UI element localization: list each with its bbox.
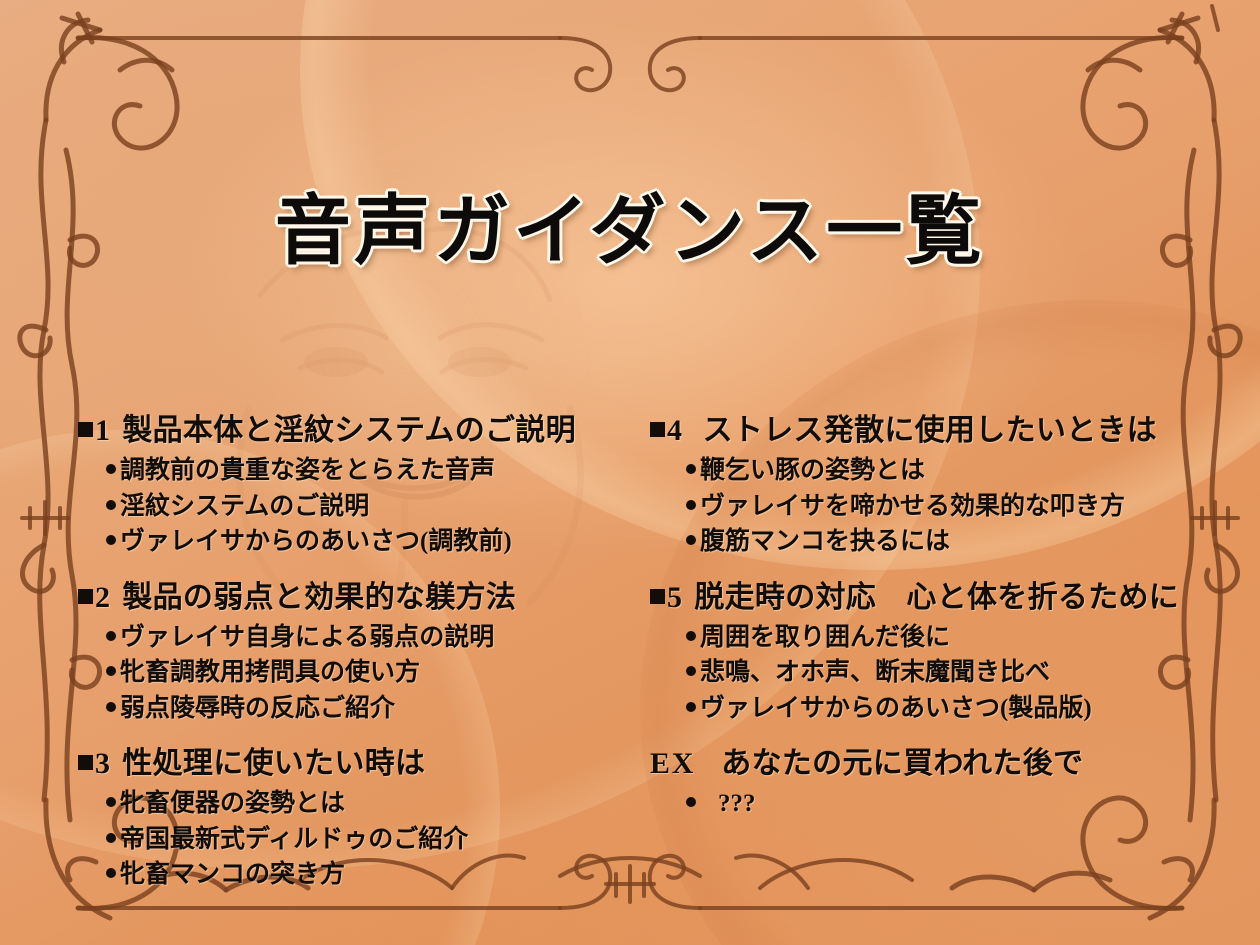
- section-2-number: 2: [95, 581, 110, 615]
- list-item: ヴァレイサ自身による弱点の説明: [106, 620, 658, 656]
- list-item-label: 牝畜調教用拷問具の使い方: [120, 655, 420, 691]
- black-square-icon: [650, 589, 665, 604]
- list-item: 調教前の貴重な姿をとらえた音声: [106, 453, 658, 489]
- list-item-label: 調教前の貴重な姿をとらえた音声: [120, 453, 495, 489]
- list-item-label: ヴァレイサ自身による弱点の説明: [120, 620, 494, 656]
- list-item: 牝畜調教用拷問具の使い方: [106, 655, 658, 691]
- black-circle-icon: [686, 797, 696, 807]
- page-title: 音声ガイダンス一覧: [0, 169, 1260, 279]
- section-2: 2 製品の弱点と効果的な躾方法 ヴァレイサ自身による弱点の説明 牝畜調教用拷問具…: [78, 572, 658, 727]
- left-column: 1 製品本体と淫紋システムのご説明 調教前の貴重な姿をとらえた音声 淫紋システム…: [78, 405, 658, 905]
- list-item: ヴァレイサからのあいさつ(製品版): [686, 691, 1250, 727]
- section-1-title: 製品本体と淫紋システムのご説明: [122, 405, 576, 449]
- black-square-icon: [78, 589, 93, 604]
- list-item-label: ヴァレイサからのあいさつ(調教前): [120, 524, 512, 560]
- black-circle-icon: [106, 535, 116, 545]
- corner-flourish-top-left: [46, 14, 177, 148]
- list-item-label: 帝国最新式ディルドゥのご紹介: [120, 822, 468, 858]
- black-circle-icon: [686, 631, 696, 641]
- black-circle-icon: [686, 464, 696, 474]
- list-item-label: 淫紋システムのご説明: [120, 489, 369, 525]
- list-item-label: ヴァレイサを啼かせる効果的な叩き方: [700, 489, 1125, 525]
- list-item: 牝畜マンコの突き方: [106, 857, 658, 893]
- black-circle-icon: [686, 666, 696, 676]
- section-4-heading: 4 ストレス発散に使用したいときは: [650, 405, 1250, 449]
- list-item: 鞭乞い豚の姿勢とは: [686, 453, 1250, 489]
- section-3: 3 性処理に使いたい時は 牝畜便器の姿勢とは 帝国最新式ディルドゥのご紹介 牝畜…: [78, 738, 658, 893]
- section-3-number: 3: [95, 747, 110, 781]
- black-circle-icon: [686, 535, 696, 545]
- section-ex: EX あなたの元に買われた後で ???: [650, 738, 1250, 822]
- black-circle-icon: [106, 500, 116, 510]
- section-5: 5 脱走時の対応 心と体を折るために 周囲を取り囲んだ後に 悲鳴、オホ声、断末魔…: [650, 572, 1250, 727]
- list-item: ヴァレイサからのあいさつ(調教前): [106, 524, 658, 560]
- section-1-list: 調教前の貴重な姿をとらえた音声 淫紋システムのご説明 ヴァレイサからのあいさつ(…: [78, 453, 658, 560]
- black-circle-icon: [106, 833, 116, 843]
- corner-flourish-top-right: [1083, 14, 1214, 148]
- black-square-icon: [78, 422, 93, 437]
- black-square-icon: [78, 755, 93, 770]
- section-3-title: 性処理に使いたい時は: [122, 738, 425, 782]
- list-item-label: 鞭乞い豚の姿勢とは: [700, 453, 925, 489]
- black-circle-icon: [106, 631, 116, 641]
- section-4-title: ストレス発散に使用したいときは: [703, 405, 1158, 449]
- list-item-label: 弱点陵辱時の反応ご紹介: [120, 691, 395, 727]
- list-item: 帝国最新式ディルドゥのご紹介: [106, 822, 658, 858]
- section-ex-title: あなたの元に買われた後で: [721, 738, 1083, 782]
- section-2-list: ヴァレイサ自身による弱点の説明 牝畜調教用拷問具の使い方 弱点陵辱時の反応ご紹介: [78, 620, 658, 727]
- section-3-heading: 3 性処理に使いたい時は: [78, 738, 658, 782]
- section-3-list: 牝畜便器の姿勢とは 帝国最新式ディルドゥのご紹介 牝畜マンコの突き方: [78, 786, 658, 893]
- section-ex-list: ???: [650, 786, 1250, 822]
- list-item: 腹筋マンコを抉るには: [686, 524, 1250, 560]
- list-item: 淫紋システムのご説明: [106, 489, 658, 525]
- section-1-number: 1: [95, 414, 110, 448]
- black-circle-icon: [686, 702, 696, 712]
- list-item: 牝畜便器の姿勢とは: [106, 786, 658, 822]
- content-columns: 1 製品本体と淫紋システムのご説明 調教前の貴重な姿をとらえた音声 淫紋システム…: [0, 405, 1260, 875]
- black-square-icon: [650, 422, 665, 437]
- list-item: ヴァレイサを啼かせる効果的な叩き方: [686, 489, 1250, 525]
- black-circle-icon: [686, 500, 696, 510]
- list-item-label: 周囲を取り囲んだ後に: [700, 620, 950, 656]
- list-item-label: ???: [718, 786, 756, 822]
- list-item: 周囲を取り囲んだ後に: [686, 620, 1250, 656]
- list-item-label: ヴァレイサからのあいさつ(製品版): [700, 691, 1092, 727]
- section-5-heading: 5 脱走時の対応 心と体を折るために: [650, 572, 1250, 616]
- list-item: 弱点陵辱時の反応ご紹介: [106, 691, 658, 727]
- list-item: 悲鳴、オホ声、断末魔聞き比べ: [686, 655, 1250, 691]
- list-item-label: 悲鳴、オホ声、断末魔聞き比べ: [700, 655, 1050, 691]
- top-center-cross-motif: [1212, 6, 1218, 30]
- section-5-number: 5: [667, 581, 682, 615]
- section-4-list: 鞭乞い豚の姿勢とは ヴァレイサを啼かせる効果的な叩き方 腹筋マンコを抉るには: [650, 453, 1250, 560]
- black-circle-icon: [106, 464, 116, 474]
- section-5-title: 脱走時の対応 心と体を折るために: [694, 572, 1179, 616]
- section-2-heading: 2 製品の弱点と効果的な躾方法: [78, 572, 658, 616]
- black-circle-icon: [106, 702, 116, 712]
- section-5-list: 周囲を取り囲んだ後に 悲鳴、オホ声、断末魔聞き比べ ヴァレイサからのあいさつ(製…: [650, 620, 1250, 727]
- right-column: 4 ストレス発散に使用したいときは 鞭乞い豚の姿勢とは ヴァレイサを啼かせる効果…: [650, 405, 1250, 834]
- list-item-label: 腹筋マンコを抉るには: [700, 524, 950, 560]
- section-2-title: 製品の弱点と効果的な躾方法: [122, 572, 516, 616]
- section-ex-heading: EX あなたの元に買われた後で: [650, 738, 1250, 782]
- section-ex-number: EX: [650, 747, 695, 781]
- list-item-label: 牝畜マンコの突き方: [120, 857, 345, 893]
- slide-root: 音声ガイダンス一覧 1 製品本体と淫紋システムのご説明 調教前の貴重な姿をとらえ…: [0, 0, 1260, 945]
- black-circle-icon: [106, 797, 116, 807]
- section-1-heading: 1 製品本体と淫紋システムのご説明: [78, 405, 658, 449]
- black-circle-icon: [106, 868, 116, 878]
- top-border-rail: [78, 38, 1182, 90]
- section-4: 4 ストレス発散に使用したいときは 鞭乞い豚の姿勢とは ヴァレイサを啼かせる効果…: [650, 405, 1250, 560]
- black-circle-icon: [106, 666, 116, 676]
- section-4-number: 4: [667, 414, 683, 448]
- list-item: ???: [686, 786, 1250, 822]
- list-item-label: 牝畜便器の姿勢とは: [120, 786, 345, 822]
- section-1: 1 製品本体と淫紋システムのご説明 調教前の貴重な姿をとらえた音声 淫紋システム…: [78, 405, 658, 560]
